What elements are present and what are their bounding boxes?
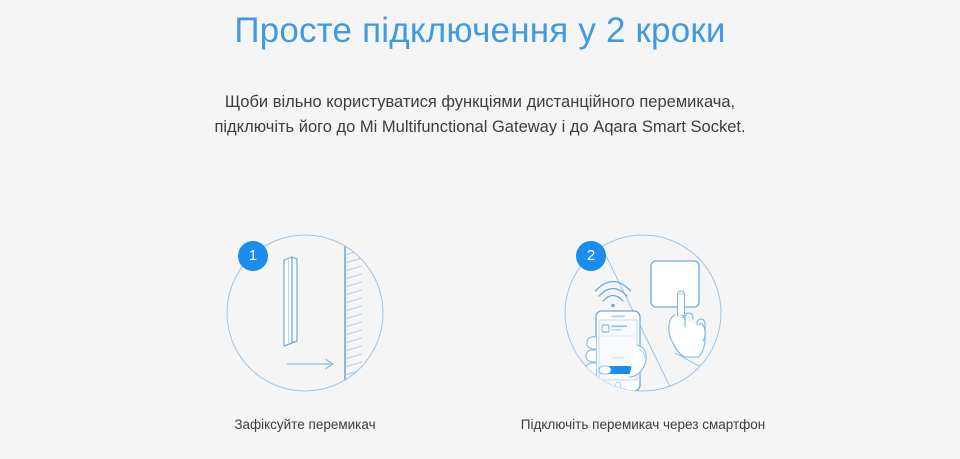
heading-block: Просте підключення у 2 кроки Щоби вільно…: [0, 8, 960, 140]
wall-switch-panel: [651, 261, 699, 307]
wifi-icon: [596, 282, 631, 308]
smartphone: [596, 311, 640, 391]
switch-side-view: [284, 257, 297, 346]
step-2-caption: Підключіть перемикач через смартфон: [513, 415, 773, 434]
step-1-caption: Зафіксуйте перемикач: [175, 415, 435, 434]
subtitle-line-2: підключіть його до Mi Multifunctional Ga…: [0, 115, 960, 140]
step-2-illustration: 2: [563, 233, 723, 393]
steps-row: 1 Зафіксуйте перемикач: [0, 233, 960, 443]
promo-page: Просте підключення у 2 кроки Щоби вільно…: [0, 0, 960, 459]
subtitle-line-1: Щоби вільно користуватися функціями дист…: [0, 90, 960, 115]
step-item-1: 1 Зафіксуйте перемикач: [175, 233, 435, 443]
page-subtitle: Щоби вільно користуватися функціями дист…: [0, 90, 960, 140]
step-item-2: 2 Підключіть перемикач через смартфон: [513, 233, 773, 443]
page-title: Просте підключення у 2 кроки: [0, 8, 960, 54]
step-2-badge: 2: [576, 241, 606, 271]
step-1-illustration: 1: [225, 233, 385, 393]
step-1-badge: 1: [238, 241, 268, 271]
right-arrow: [287, 360, 333, 369]
